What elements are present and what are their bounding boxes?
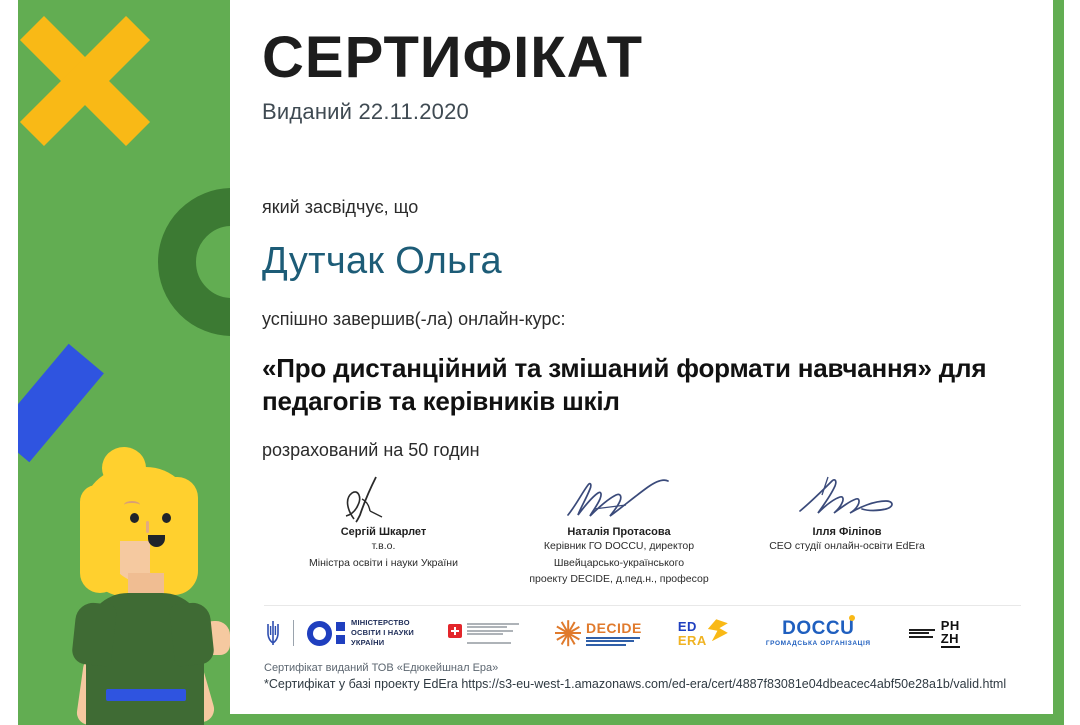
eyebrow	[124, 501, 140, 509]
ukraine-trident-icon	[266, 620, 280, 646]
swiss-agency-text-placeholder	[467, 623, 519, 645]
issuer-note: Сертифікат виданий ТОВ «Едюкейшнал Ера»	[264, 662, 1029, 674]
signatory-role-2: Міністра освіти і науки України	[276, 556, 491, 571]
eye-right	[162, 513, 171, 523]
mon-line-1: МІНІСТЕРСТВО	[351, 618, 414, 628]
partner-logo-row: МІНІСТЕРСТВО ОСВІТИ І НАУКИ УКРАЇНИ	[262, 618, 1029, 648]
footer-notes: Сертифікат виданий ТОВ «Едюкейшнал Ера» …	[262, 662, 1029, 691]
footer-divider	[264, 605, 1021, 606]
sleeve-left	[71, 601, 117, 667]
signatory-role-1: Керівник ГО DOCCU, директор	[519, 539, 719, 554]
logo-swiss-cooperation	[448, 623, 519, 645]
certificate-page: СЕРТИФІКАТ Виданий 22.11.2020 який засві…	[0, 0, 1080, 725]
doccu-dot-icon	[849, 615, 855, 621]
decorative-art-panel	[18, 0, 230, 725]
doccu-wordmark: DOCCU	[782, 619, 854, 638]
attest-line: який засвідчує, що	[262, 197, 1029, 218]
logo-decide: DECIDE	[555, 620, 642, 646]
nose	[146, 521, 149, 533]
verification-note: *Сертифікат у базі проекту EdEra https:/…	[264, 677, 1029, 691]
signature-block-3: Ілля Філіпов CEO студії онлайн-освіти Ed…	[747, 475, 947, 587]
signature-mark-icon	[276, 475, 491, 523]
signature-mark-icon	[519, 475, 719, 523]
signature-row: Сергій Шкарлет т.в.о. Міністра освіти і …	[262, 475, 1029, 587]
swiss-flag-icon	[448, 624, 462, 638]
recipient-name: Дутчак Ольга	[262, 240, 1029, 283]
certificate-title: СЕРТИФІКАТ	[262, 28, 1029, 89]
phzh-wordmark: PH ZH	[941, 619, 960, 649]
mon-line-3: УКРАЇНИ	[351, 638, 414, 648]
yellow-cross-shape	[18, 6, 160, 156]
decide-subtitle-placeholder	[586, 637, 642, 646]
decide-starburst-icon	[555, 620, 581, 646]
mon-line-2: ОСВІТИ І НАУКИ	[351, 628, 414, 638]
course-title: «Про дистанційний та змішаний формати на…	[262, 352, 1029, 419]
illustration-woman	[54, 425, 230, 725]
signatory-name: Наталія Протасова	[519, 526, 719, 538]
issue-date: Виданий 22.11.2020	[262, 99, 1029, 125]
logo-doccu: DOCCU ГРОМАДСЬКА ОРГАНІЗАЦІЯ	[766, 619, 871, 647]
dark-green-ring-shape	[158, 188, 230, 336]
right-green-stripe	[1053, 0, 1064, 725]
mon-emblem-icon	[307, 621, 345, 646]
belt	[106, 689, 186, 701]
logo-ministry-of-education: МІНІСТЕРСТВО ОСВІТИ І НАУКИ УКРАЇНИ	[266, 618, 414, 648]
doccu-subtitle: ГРОМАДСЬКА ОРГАНІЗАЦІЯ	[766, 640, 871, 647]
phzh-line-1: PH	[941, 619, 960, 632]
course-hours: розрахований на 50 годин	[262, 440, 1029, 461]
signatory-role-3: проекту DECIDE, д.пед.н., професор	[519, 572, 719, 587]
mon-wordmark: МІНІСТЕРСТВО ОСВІТИ І НАУКИ УКРАЇНИ	[351, 618, 414, 648]
phzh-line-2: ZH	[941, 632, 960, 645]
signature-block-2: Наталія Протасова Керівник ГО DOCCU, дир…	[519, 475, 719, 587]
signatory-role-2: Швейцарсько-українського	[519, 556, 719, 571]
signatory-name: Ілля Філіпов	[747, 526, 947, 538]
phzh-text-placeholder	[909, 629, 935, 638]
signatory-role-1: CEO студії онлайн-освіти EdEra	[747, 539, 947, 554]
decide-wordmark: DECIDE	[586, 621, 642, 635]
completion-line: успішно завершив(-ла) онлайн-курс:	[262, 309, 1029, 330]
logo-phzh: PH ZH	[909, 619, 960, 649]
signature-block-1: Сергій Шкарлет т.в.о. Міністра освіти і …	[276, 475, 491, 587]
signatory-name: Сергій Шкарлет	[276, 526, 491, 538]
eye-left	[130, 513, 139, 523]
signatory-role-1: т.в.о.	[276, 539, 491, 554]
edera-spark-icon	[708, 619, 728, 641]
certificate-content: СЕРТИФІКАТ Виданий 22.11.2020 який засві…	[230, 0, 1053, 725]
logo-divider	[293, 620, 294, 646]
sleeve-right	[169, 601, 215, 667]
signature-mark-icon	[747, 475, 947, 523]
logo-edera: ED ERA	[678, 620, 728, 647]
edera-line-2: ERA	[678, 634, 707, 647]
edera-line-1: ED	[678, 620, 707, 633]
